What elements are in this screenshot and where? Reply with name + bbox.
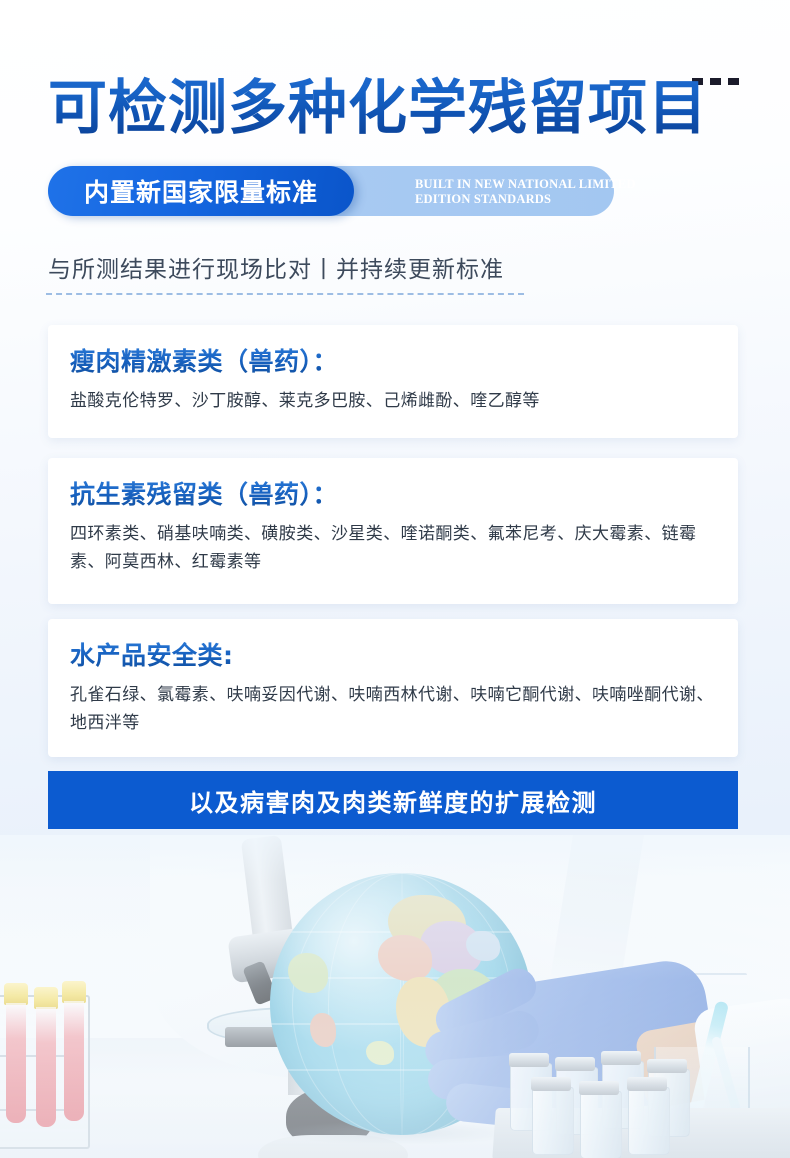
page-title: 可检测多种化学残留项目: [48, 72, 708, 144]
decor-dot-icon: [728, 78, 739, 85]
highlight-banner-label: 以及病害肉及肉类新鲜度的扩展检测: [189, 783, 597, 818]
dashed-divider: [46, 293, 524, 295]
category-card: 瘦肉精激素类（兽药）： 盐酸克伦特罗、沙丁胺醇、莱克多巴胺、己烯雌酚、喹乙醇等: [48, 325, 738, 438]
category-card-body: 四环素类、硝基呋喃类、磺胺类、沙星类、喹诺酮类、氟苯尼考、庆大霉素、链霉素、阿莫…: [70, 520, 716, 576]
subtitle: 与所测结果进行现场比对丨并持续更新标准: [48, 250, 504, 284]
decor-dot-icon: [710, 78, 721, 85]
category-card: 抗生素残留类（兽药）： 四环素类、硝基呋喃类、磺胺类、沙星类、喹诺酮类、氟苯尼考…: [48, 458, 738, 604]
category-card-title: 抗生素残留类（兽药）：: [70, 478, 716, 511]
badge-english-label: BUILT IN NEW NATIONAL LIMITED EDITION ST…: [415, 177, 655, 207]
badge-pill: 内置新国家限量标准: [48, 166, 354, 216]
category-card-title: 瘦肉精激素类（兽药）：: [70, 345, 716, 378]
category-card-body: 盐酸克伦特罗、沙丁胺醇、莱克多巴胺、己烯雌酚、喹乙醇等: [70, 387, 716, 415]
highlight-banner: 以及病害肉及肉类新鲜度的扩展检测: [48, 771, 738, 829]
badge-pill-label: 内置新国家限量标准: [84, 173, 318, 209]
lab-photo: [0, 835, 790, 1158]
category-card: 水产品安全类: 孔雀石绿、氯霉素、呋喃妥因代谢、呋喃西林代谢、呋喃它酮代谢、呋喃…: [48, 619, 738, 757]
category-card-body: 孔雀石绿、氯霉素、呋喃妥因代谢、呋喃西林代谢、呋喃它酮代谢、呋喃唑酮代谢、地西泮…: [70, 681, 716, 737]
badge-row: BUILT IN NEW NATIONAL LIMITED EDITION ST…: [48, 166, 614, 216]
lab-scene: [0, 835, 790, 1158]
category-card-title: 水产品安全类:: [70, 639, 716, 672]
promo-page: 可检测多种化学残留项目 BUILT IN NEW NATIONAL LIMITE…: [0, 0, 790, 1158]
photo-overlay: [0, 835, 790, 1158]
